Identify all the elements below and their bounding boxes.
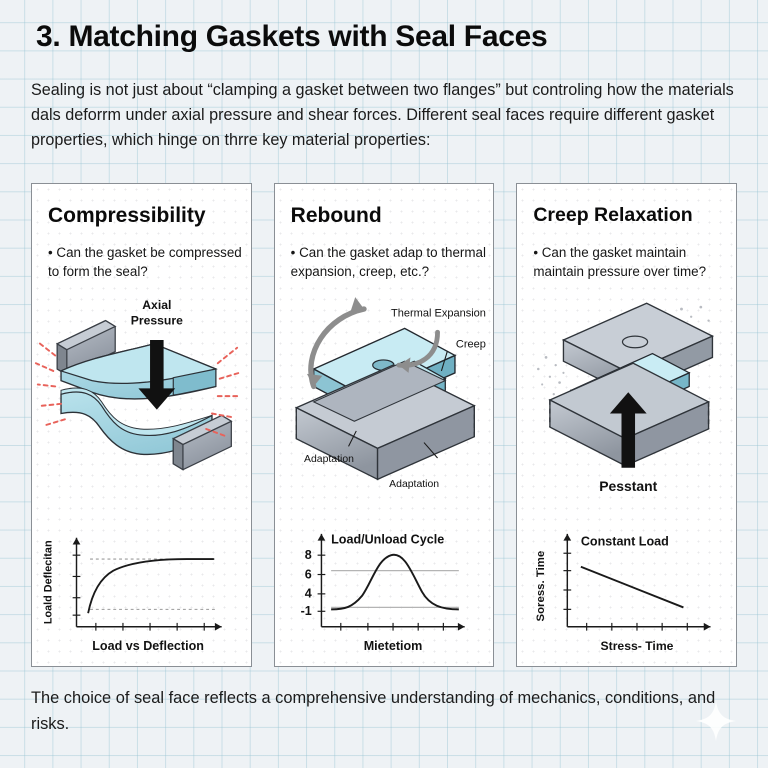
card-creep-relaxation[interactable]: Creep Relaxation • Can the gasket mainta… [516,183,737,667]
chart-y-axis-label: Soress. Time [535,551,547,622]
card-rebound[interactable]: Rebound • Can the gasket adap to thermal… [274,183,495,667]
intro-paragraph: Sealing is not just about “clamping a ga… [31,78,737,153]
card-bullet: • Can the gasket adap to thermal expansi… [291,244,488,281]
chart-ytick-3: -1 [300,604,311,618]
chart-ytick-1: 6 [304,567,311,581]
chart-title: Constant Load [581,534,669,548]
chart-x-axis-label: Load vs Deflection [92,639,204,653]
chart-title: Load/Unload Cycle [331,533,444,547]
chart-guide-lines [90,559,216,609]
card-heading: Rebound [291,204,486,228]
art-label-thermal-expansion: Thermal Expansion [391,308,486,320]
chart-curve [331,555,459,610]
chart-x-axis-label: Stress- Time [601,639,674,653]
card-heading: Creep Relaxation [533,204,728,227]
chart-ytick-0: 8 [304,548,311,562]
sandwiched-gasket-illustration: Pesstant [517,284,736,514]
art-label-adaptation-left: Adaptation [304,454,354,465]
bolt-hole-icon [623,336,648,348]
chart-line [581,567,684,608]
art-label-creep: Creep [456,339,486,351]
art-label-pesstant: Pesstant [600,478,658,494]
footer-text: The choice of seal face reflects a compr… [31,685,731,737]
card-bullet: • Can the gasket maintain maintain press… [533,244,730,281]
chart-curve [88,559,214,613]
compressed-gasket-illustration: Axial Pressure [32,284,251,514]
chart-constant-load: Soress. Time Constant Load Stress- Time [517,520,736,660]
cards-row: Compressibility • Can the gasket be comp… [31,183,737,667]
card-heading: Compressibility [48,204,243,228]
chart-y-axis-label: Loald Deflecitan [42,540,54,624]
art-label-pressure: Pressure [131,313,183,327]
card-compressibility[interactable]: Compressibility • Can the gasket be comp… [31,183,252,667]
card-bullet: • Can the gasket be compressed to form t… [48,244,245,281]
art-label-axial: Axial [142,298,171,312]
sparkle-icon [694,699,738,743]
chart-load-vs-deflection: Loald Deflecitan Load vs Deflection [32,520,251,660]
chart-guide-lines [331,571,459,608]
art-label-adaptation-right: Adaptation [389,479,439,490]
chart-ytick-2: 4 [304,587,311,601]
page-title: 3. Matching Gaskets with Seal Faces [36,20,547,54]
chart-x-axis-label: Mietetiom [363,639,422,653]
chart-load-unload-cycle: 8 6 4 -1 Load/Unload Cycle Mietetiom [275,520,494,660]
exploded-flange-illustration: Thermal Expansion Creep Adaptation Adapt… [275,284,494,514]
